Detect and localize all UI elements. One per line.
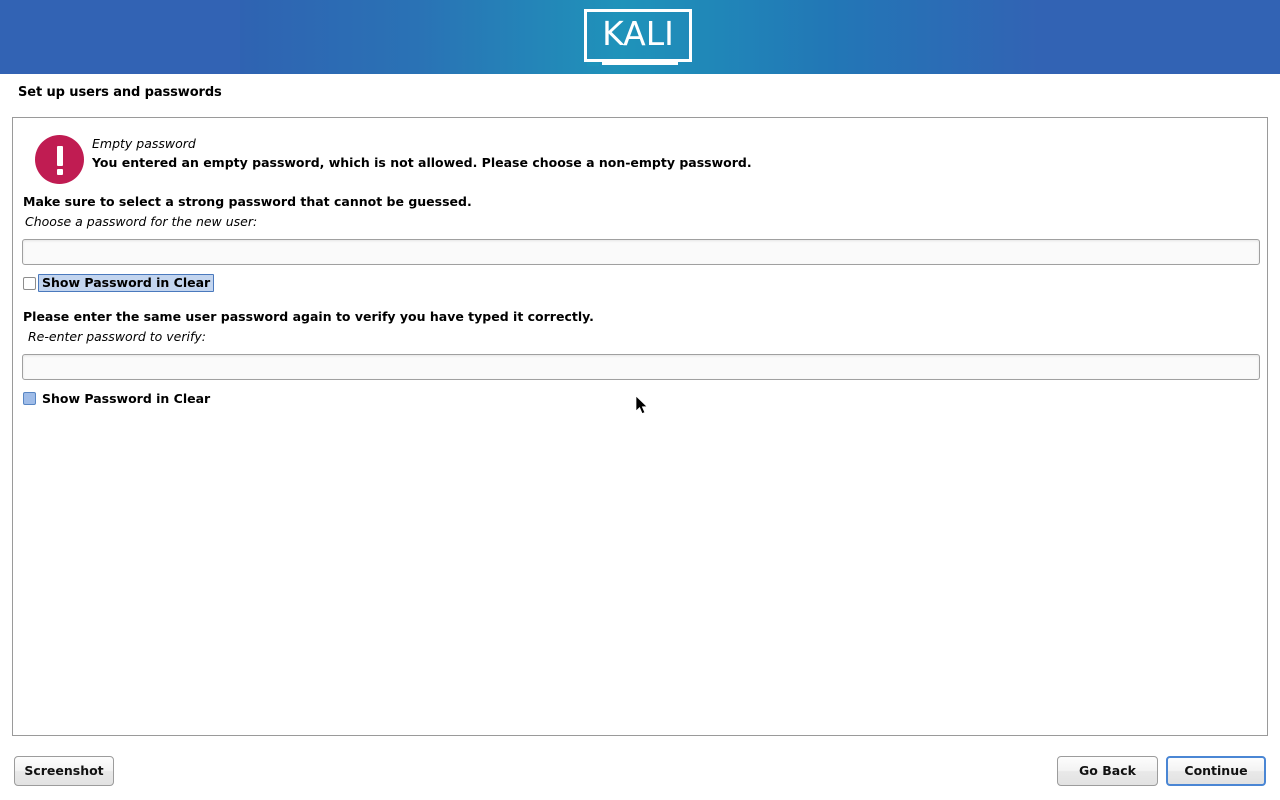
verify-password-input[interactable] xyxy=(22,354,1260,380)
main-content-panel: Empty password You entered an empty pass… xyxy=(12,117,1268,736)
kali-logo-text: KALI xyxy=(584,13,692,55)
exclamation-dot xyxy=(57,169,63,175)
continue-button[interactable]: Continue xyxy=(1166,756,1266,786)
screenshot-button[interactable]: Screenshot xyxy=(14,756,114,786)
password-input[interactable] xyxy=(22,239,1260,265)
kali-logo-notch xyxy=(587,62,599,66)
password-heading: Make sure to select a strong password th… xyxy=(23,194,472,209)
error-title: Empty password xyxy=(92,136,196,151)
go-back-button[interactable]: Go Back xyxy=(1057,756,1158,786)
password-label: Choose a password for the new user: xyxy=(25,214,257,229)
exclamation-stem xyxy=(57,146,63,166)
verify-label: Re-enter password to verify: xyxy=(28,329,206,344)
kali-logo: KALI xyxy=(584,9,696,66)
page-title: Set up users and passwords xyxy=(18,85,222,100)
error-message-block: Empty password You entered an empty pass… xyxy=(23,127,1253,183)
show-password-checkbox-2[interactable] xyxy=(23,392,36,405)
error-description: You entered an empty password, which is … xyxy=(92,155,752,170)
show-password-label-1[interactable]: Show Password in Clear xyxy=(38,274,214,292)
show-password-label-2[interactable]: Show Password in Clear xyxy=(42,391,210,406)
mouse-cursor xyxy=(636,396,650,416)
verify-heading: Please enter the same user password agai… xyxy=(23,309,594,324)
error-exclamation-icon xyxy=(35,135,84,184)
kali-logo-underline xyxy=(602,60,678,65)
show-password-checkbox-1[interactable] xyxy=(23,277,36,290)
installer-banner: KALI xyxy=(0,0,1280,74)
